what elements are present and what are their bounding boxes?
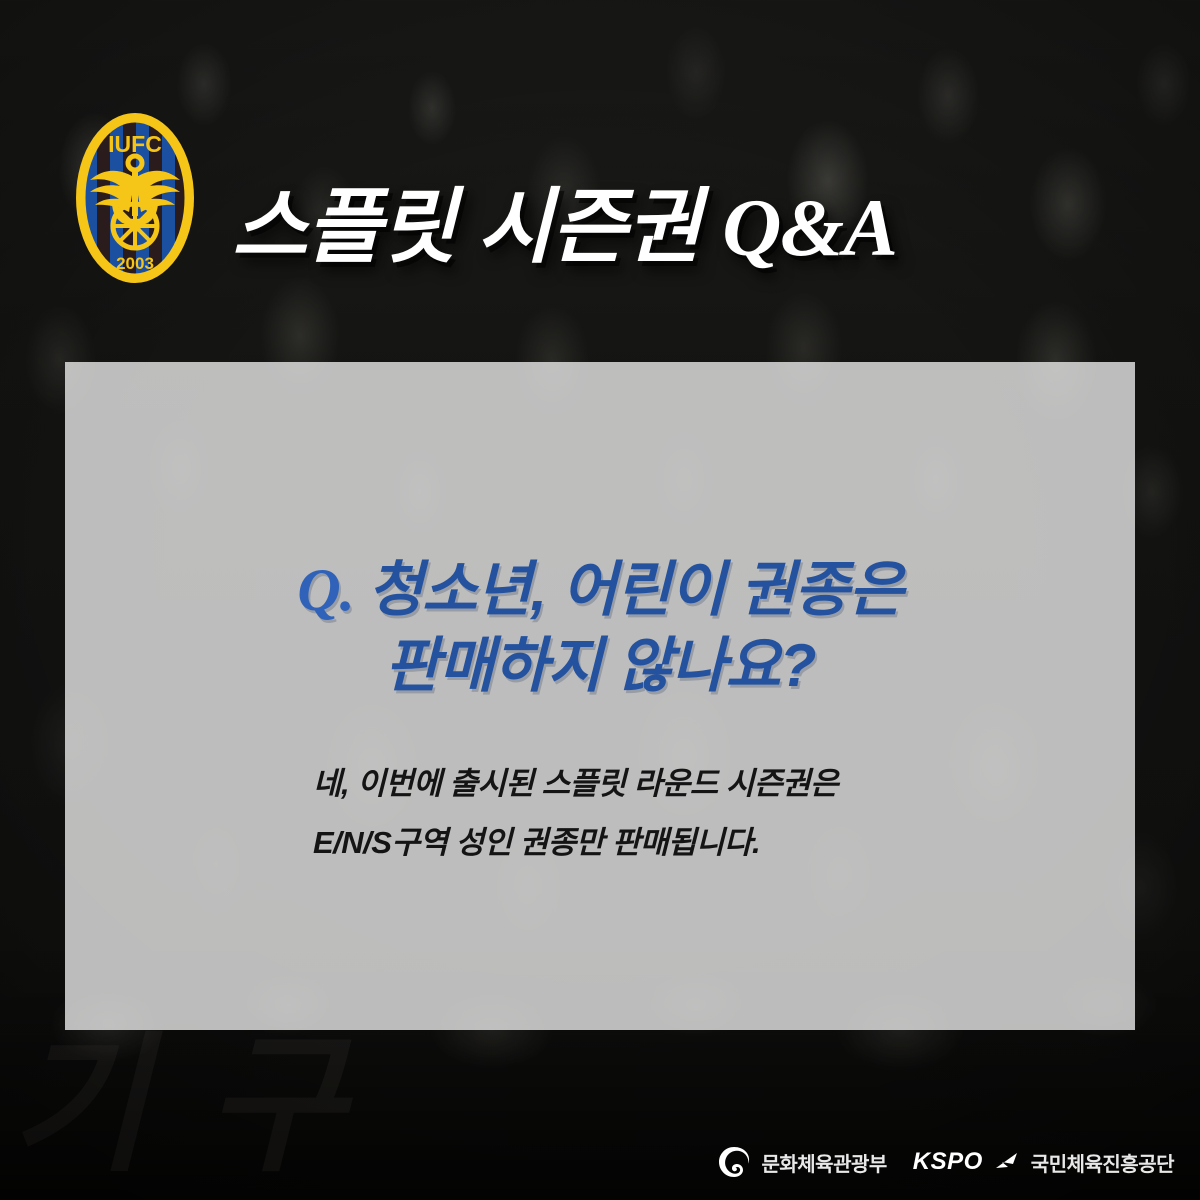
poster-canvas: 기 구 [0,0,1200,1200]
kspo-logo: KSPO 국민체육진흥공단 [913,1148,1174,1177]
question-prefix: Q. [297,557,353,623]
answer-line-2: E/N/S구역 성인 권종만 판매됩니다. [117,813,1135,872]
page-title-qa: Q&A [722,182,897,273]
page-title-main: 스플릿 시즌권 [232,182,722,273]
ministry-logo: 문화체육관광부 [717,1145,886,1179]
question-line-1: 청소년, 어린이 권종은 [368,556,903,623]
kspo-wordmark: KSPO [913,1148,983,1176]
question-block: Q.청소년, 어린이 권종은 판매하지 않나요? [65,552,1135,704]
kspo-swoosh-icon [993,1151,1021,1173]
answer-line-1: 네, 이번에 출시된 스플릿 라운드 시즌권은 [117,754,1135,813]
kspo-label: 국민체육진흥공단 [1031,1148,1174,1177]
answer-block: 네, 이번에 출시된 스플릿 라운드 시즌권은 E/N/S구역 성인 권종만 판… [65,754,1135,872]
page-title: 스플릿 시즌권 Q&A [232,160,897,279]
question-line-2: 판매하지 않나요? [65,628,1135,704]
footer-sponsor-logos: 문화체육관광부 KSPO 국민체육진흥공단 [717,1140,1174,1184]
poster-header: IUFC 2003 스플릿 시즌권 Q&A [0,0,1200,340]
ministry-label: 문화체육관광부 [761,1148,886,1177]
club-crest-logo: IUFC 2003 [72,106,198,290]
ships-wheel-icon [111,202,159,250]
crest-initials: IUFC [108,131,162,157]
content-panel: Q.청소년, 어린이 권종은 판매하지 않나요? 네, 이번에 출시된 스플릿 … [65,362,1135,1030]
taegeuk-icon [717,1145,751,1179]
crest-shield-icon: IUFC 2003 [72,106,198,290]
crest-year: 2003 [116,254,154,273]
